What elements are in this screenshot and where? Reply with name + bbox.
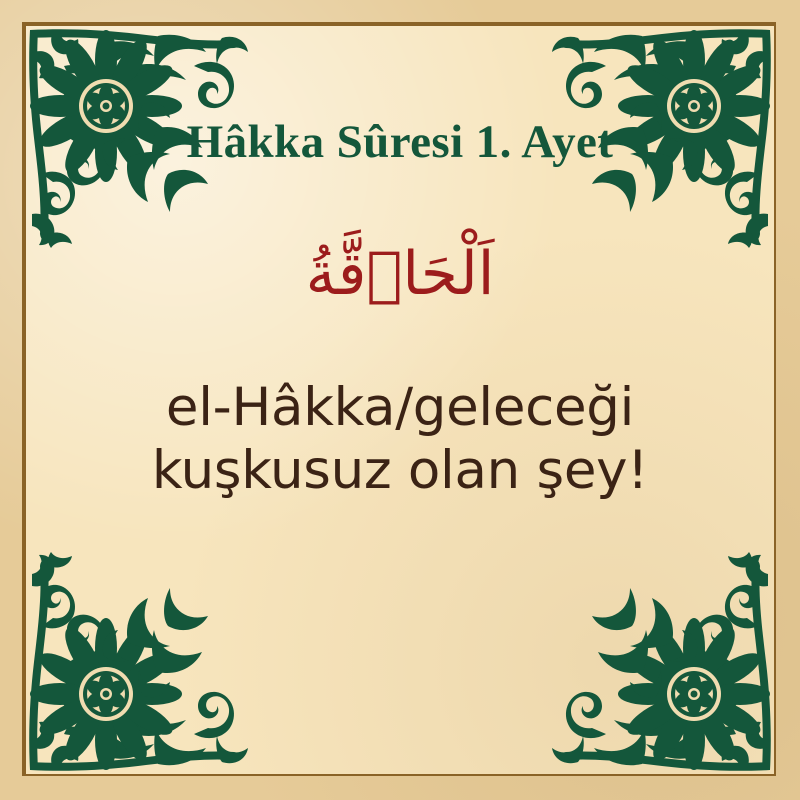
arabic-verse-text: اَلْحَاۤقَّةُ [306,229,495,319]
translation-line-2: kuşkusuz olan şey! [95,440,705,503]
page-title: Hâkka Sûresi 1. Ayet [187,118,614,167]
translation-line-1: el-Hâkka/geleceği [95,377,705,440]
translation-block: el-Hâkka/geleceği kuşkusuz olan şey! [95,377,705,502]
card-content: Hâkka Sûresi 1. Ayet اَلْحَاۤقَّةُ el-Hâ… [0,0,800,800]
ayet-card: Hâkka Sûresi 1. Ayet اَلْحَاۤقَّةُ el-Hâ… [0,0,800,800]
